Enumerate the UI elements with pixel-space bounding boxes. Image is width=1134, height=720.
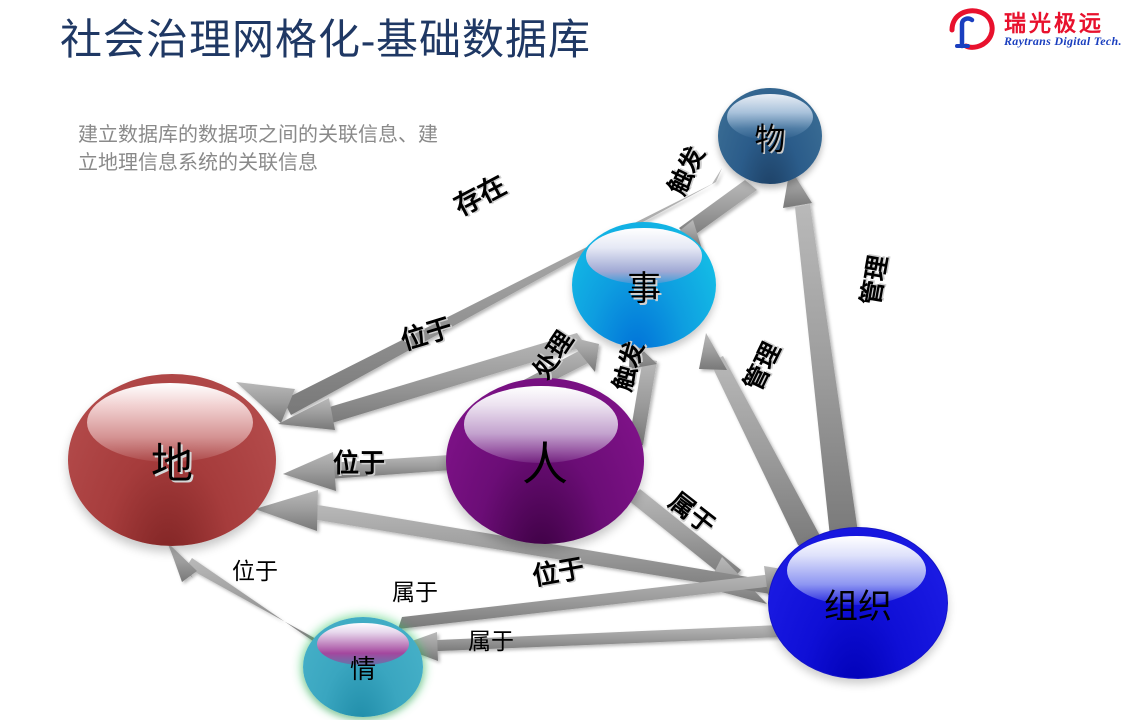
node-shi[interactable]: 事 [572, 222, 716, 348]
node-qing-label: 情 [350, 649, 376, 686]
edge-label-weiyu-ren-di: 位于 [333, 443, 385, 480]
node-wu[interactable]: 物 [718, 88, 822, 184]
edge-label-weiyu-qing-di: 位于 [232, 552, 278, 586]
node-shi-label: 事 [627, 261, 661, 310]
node-ren[interactable]: 人 [446, 378, 644, 544]
node-zuzhi[interactable]: 组织 [768, 527, 948, 679]
node-zuzhi-label: 组织 [824, 579, 892, 628]
edge-zuzhi-qing-lower [398, 625, 782, 661]
node-wu-label: 物 [755, 114, 786, 159]
edge-label-shuyu-zuzhi-qing: 属于 [468, 622, 514, 656]
node-ren-label: 人 [522, 428, 568, 494]
node-qing[interactable]: 情 [303, 617, 423, 717]
node-di[interactable]: 地 [68, 374, 276, 546]
edge-label-shuyu-qing-zuzhi: 属于 [392, 573, 438, 607]
node-di-label: 地 [151, 430, 193, 491]
